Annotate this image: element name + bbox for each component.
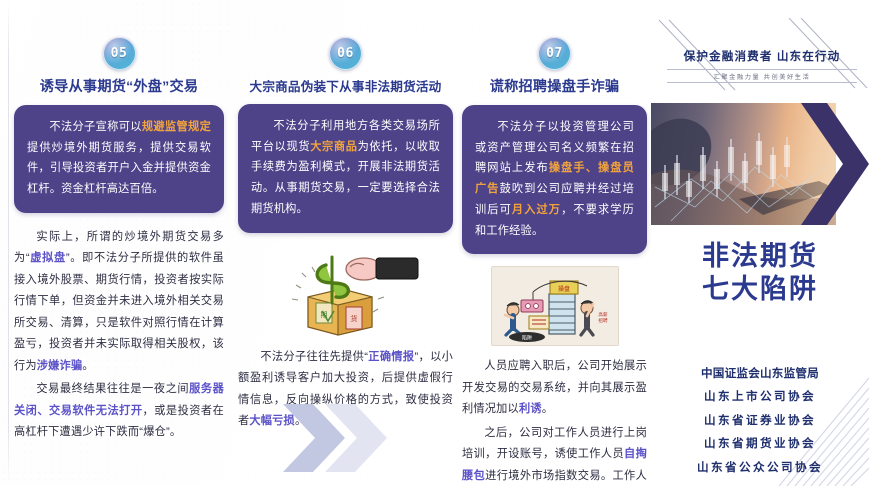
organization-item: 中国证监会山东监管局 xyxy=(651,362,869,385)
panel-05: 05 诱导从事期货“外盘”交易 不法分子宣称可以规避监管规定提供炒境外期货服务，… xyxy=(14,0,224,446)
badge-label: 07 xyxy=(546,46,563,61)
card-text-pre: 不法分子宣称可以 xyxy=(49,121,141,133)
card-text-highlight: 规避监管规定 xyxy=(142,121,211,133)
brochure-page: 05 诱导从事期货“外盘”交易 不法分子宣称可以规避监管规定提供炒境外期货服务，… xyxy=(0,0,869,486)
para-text: 不法分子往往先提供“ xyxy=(260,351,368,363)
organization-item: 山东省期货业协会 xyxy=(651,432,869,455)
card-text-highlight-2: 月入过万 xyxy=(512,204,561,216)
para-text: 交易最终结果往往是一夜之间 xyxy=(36,383,189,395)
panel-title-05: 诱导从事期货“外盘”交易 xyxy=(14,76,224,96)
organization-item: 山东省证券业协会 xyxy=(651,409,869,432)
organization-item: 山东省公众公司协会 xyxy=(651,456,869,479)
cover-title-line-1: 非法期货 xyxy=(651,240,869,273)
paragraph: 人员应聘入职后，公司开始展示开发交易的交易系统，并向其展示盈利情况加以利诱。 xyxy=(462,356,647,421)
fold-line-left xyxy=(8,0,9,486)
badge-label: 06 xyxy=(337,46,354,61)
panel-title-06: 大宗商品伪装下从事非法期货活动 xyxy=(238,76,453,95)
badge-label: 05 xyxy=(111,46,128,61)
campaign-banner: 保护金融消费者 山东在行动 汇聚金融力量 共创美好生活 xyxy=(667,48,857,83)
badge-number-07: 07 xyxy=(538,37,571,70)
double-chevron-decoration xyxy=(283,402,399,476)
banner-sub-slogan: 汇聚金融力量 共创美好生活 xyxy=(667,69,857,83)
organization-list: 中国证监会山东监管局 山东上市公司协会 山东省证券业协会 山东省期货业协会 山东… xyxy=(651,362,869,479)
para-highlight: 涉嫌诈骗 xyxy=(37,360,83,372)
panel-07: 07 谎称招聘操盘手诈骗 不法分子以投资管理公司或资产管理公司名义频繁在招聘网站… xyxy=(462,0,647,486)
highlight-card-06: 不法分子利用地方各类交易场所平台以现货大宗商品为依托，以收取手续费为盈利模式，开… xyxy=(238,104,453,233)
cover-title: 非法期货 七大陷阱 xyxy=(651,240,869,306)
badge-number-06: 06 xyxy=(329,37,362,70)
photo-chevron-accent xyxy=(801,103,869,225)
organization-item: 山东上市公司协会 xyxy=(651,385,869,408)
para-text: 人员应聘入职后，公司开始展示开发交易的交易系统，并向其展示盈利情况加以 xyxy=(462,360,647,415)
paragraph: 交易最终结果往往是一夜之间服务器关闭、交易软件无法打开，或是投资者在高杠杆下遭遇… xyxy=(14,379,224,444)
banner-main-slogan: 保护金融消费者 山东在行动 xyxy=(667,48,857,64)
cover-title-line-2: 七大陷阱 xyxy=(651,273,869,306)
highlight-card-05: 不法分子宣称可以规避监管规定提供炒境外期货服务，提供交易软件，引导投资者开户入金… xyxy=(14,105,224,213)
svg-text:招聘: 招聘 xyxy=(598,317,608,324)
para-text: ”。即不法分子所提供的软件虽接入境外股票、期货行情，投资者按实际行情下单，但资金… xyxy=(14,252,224,372)
para-text: 之后，公司对工作人员进行上岗培训，开设账号，诱使工作人员 xyxy=(462,427,647,461)
cover-panel: 保护金融消费者 山东在行动 汇聚金融力量 共创美好生活 xyxy=(651,0,869,486)
para-highlight: 正确情报 xyxy=(368,351,414,363)
cover-photo-block xyxy=(651,103,869,225)
svg-text:货: 货 xyxy=(350,314,357,323)
badge-number-05: 05 xyxy=(103,37,136,70)
card-text-highlight: 大宗商品 xyxy=(310,141,357,153)
card-text-post: 提供炒境外期货服务，提供交易软件，引导投资者开户入金并提供资金杠杆。资金杠杆高达… xyxy=(27,142,211,195)
highlight-card-07: 不法分子以投资管理公司或资产管理公司名义频繁在招聘网站上发布操盘手、操盘员广告鼓… xyxy=(462,105,647,254)
paragraph: 之后，公司对工作人员进行上岗培训，开设账号，诱使工作人员自掏腰包进行境外市场指数… xyxy=(462,423,647,486)
panel-06: 06 大宗商品伪装下从事非法期货活动 不法分子利用地方各类交易场所平台以现货大宗… xyxy=(238,0,453,435)
paragraph: 实际上，所谓的炒境外期货交易多为“虚拟盘”。即不法分子所提供的软件虽接入境外股票… xyxy=(14,227,224,378)
para-highlight: 利诱 xyxy=(519,403,542,415)
para-text: 。 xyxy=(82,360,93,372)
dollar-sign-gift-box-hand-illustration: 期 货 xyxy=(266,245,426,337)
panel-title-07: 谎称招聘操盘手诈骗 xyxy=(462,76,647,96)
para-text: 。 xyxy=(542,403,553,415)
svg-text:操盘: 操盘 xyxy=(557,285,569,293)
svg-text:高薪: 高薪 xyxy=(598,311,608,318)
investor-trap-cartoon-illustration: 操盘 陷阱 xyxy=(491,266,619,346)
body-text-07: 人员应聘入职后，公司开始展示开发交易的交易系统，并向其展示盈利情况加以利诱。 之… xyxy=(462,356,647,486)
body-text-05: 实际上，所谓的炒境外期货交易多为“虚拟盘”。即不法分子所提供的软件虽接入境外股票… xyxy=(14,227,224,444)
para-highlight: 虚拟盘 xyxy=(30,252,66,264)
para-text: 进行境外市场指数交易。工作人员所投入资金转入公司负责人个人账户，公司随后消失。 xyxy=(462,470,647,486)
svg-text:陷阱: 陷阱 xyxy=(521,335,531,342)
